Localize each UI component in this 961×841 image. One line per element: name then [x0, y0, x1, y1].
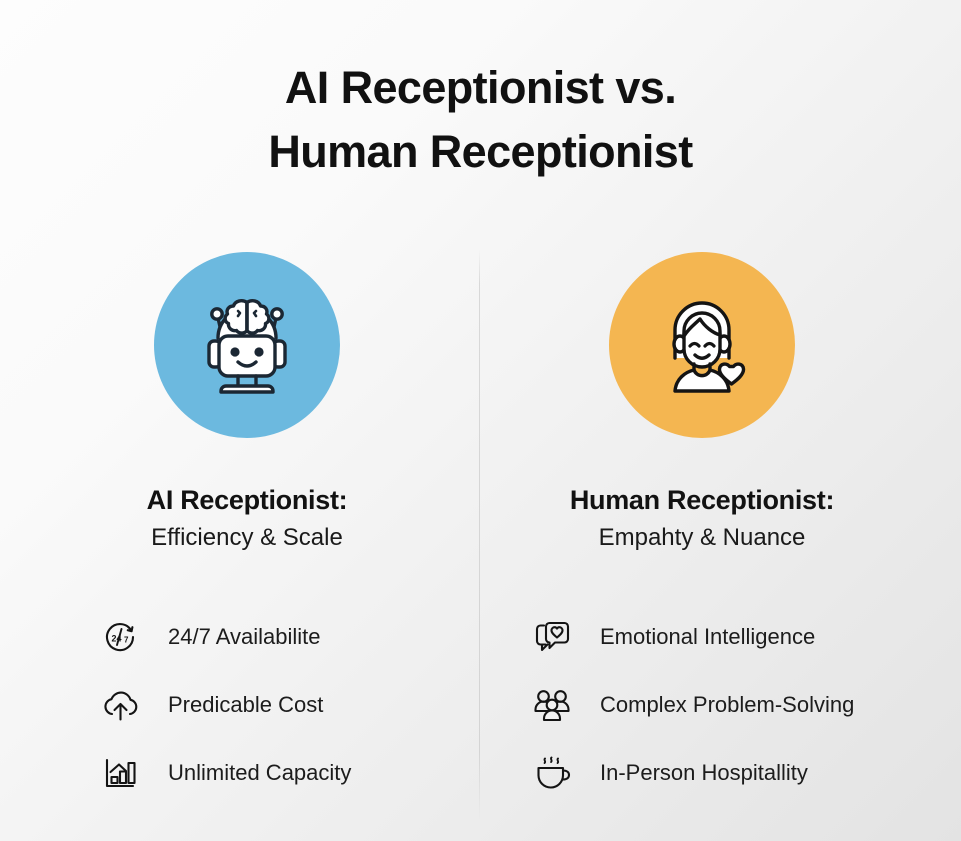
- feature-label-availability: 24/7 Availabilite: [168, 624, 321, 650]
- human-badge-circle: [609, 252, 795, 438]
- page-title: AI Receptionist vs. Human Receptionist: [0, 56, 961, 184]
- ai-feature-list: 24 7 24/7 Availabilite Pre: [22, 603, 472, 807]
- feature-label-emotional-intelligence: Emotional Intelligence: [600, 624, 815, 650]
- column-ai-receptionist: AI Receptionist: Efficiency & Scale 24 7: [22, 250, 472, 807]
- human-feature-list: Emotional Intelligence: [477, 603, 927, 807]
- woman-heart-icon: [643, 286, 761, 404]
- ai-badge-wrapper: [22, 250, 472, 440]
- svg-text:7: 7: [124, 636, 129, 645]
- clock-24-7-icon: 24 7: [98, 615, 142, 659]
- cloud-upload-icon: [98, 683, 142, 727]
- feature-item-hospitality[interactable]: In-Person Hospitallity: [477, 739, 927, 807]
- feature-item-availability[interactable]: 24 7 24/7 Availabilite: [22, 603, 472, 671]
- robot-icon: [188, 286, 306, 404]
- bar-chart-icon: [98, 751, 142, 795]
- feature-label-cost: Predicable Cost: [168, 692, 323, 718]
- feature-item-cost[interactable]: Predicable Cost: [22, 671, 472, 739]
- svg-text:24: 24: [112, 634, 122, 644]
- feature-label-hospitality: In-Person Hospitallity: [600, 760, 808, 786]
- ai-heading-main: AI Receptionist:: [22, 482, 472, 518]
- human-heading-sub: Empahty & Nuance: [477, 521, 927, 555]
- feature-item-capacity[interactable]: Unlimited Capacity: [22, 739, 472, 807]
- feature-label-capacity: Unlimited Capacity: [168, 760, 351, 786]
- human-heading-main: Human Receptionist:: [477, 482, 927, 518]
- title-line-2: Human Receptionist: [0, 120, 961, 184]
- ai-column-heading: AI Receptionist: Efficiency & Scale: [22, 482, 472, 555]
- people-group-icon: [530, 683, 574, 727]
- chat-heart-icon: [530, 615, 574, 659]
- column-human-receptionist: Human Receptionist: Empahty & Nuance Emo…: [477, 250, 927, 807]
- ai-heading-sub: Efficiency & Scale: [22, 521, 472, 555]
- infographic-canvas: AI Receptionist vs. Human Receptionist: [0, 0, 961, 841]
- feature-item-problem-solving[interactable]: Complex Problem-Solving: [477, 671, 927, 739]
- ai-badge-circle: [154, 252, 340, 438]
- title-line-1: AI Receptionist vs.: [0, 56, 961, 120]
- human-column-heading: Human Receptionist: Empahty & Nuance: [477, 482, 927, 555]
- human-badge-wrapper: [477, 250, 927, 440]
- coffee-cup-icon: [530, 751, 574, 795]
- feature-label-problem-solving: Complex Problem-Solving: [600, 692, 854, 718]
- feature-item-emotional-intelligence[interactable]: Emotional Intelligence: [477, 603, 927, 671]
